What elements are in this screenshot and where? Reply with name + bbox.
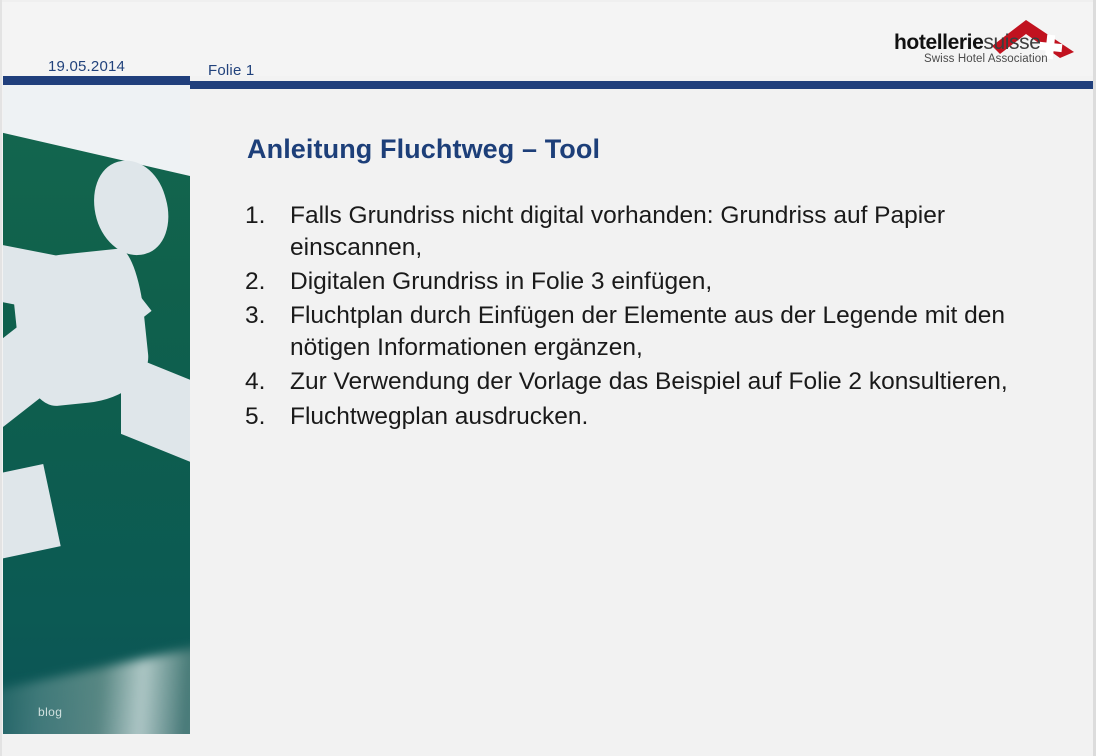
numbered-list: 1. Falls Grundriss nicht digital vorhand… [243, 200, 1053, 435]
list-item-number: 5. [243, 401, 290, 433]
slide-title: Anleitung Fluchtweg – Tool [247, 134, 600, 165]
list-item-text: Fluchtwegplan ausdrucken. [290, 401, 1053, 433]
list-item-text: Falls Grundriss nicht digital vorhanden:… [290, 200, 1053, 264]
logo-name-bold: hotellerie [894, 31, 983, 54]
sidebar-image [3, 85, 190, 748]
logo-wordmark: hotelleriesuisse [894, 32, 1041, 53]
sidebar-bottom-edge [3, 734, 190, 748]
slide-border-left [0, 0, 2, 756]
header-rule-left [3, 76, 190, 85]
list-item: 1. Falls Grundriss nicht digital vorhand… [243, 200, 1053, 264]
image-watermark: blog [38, 705, 62, 719]
list-item: 5. Fluchtwegplan ausdrucken. [243, 401, 1053, 433]
list-item-number: 2. [243, 266, 290, 298]
logo-name-light: suisse [983, 31, 1040, 54]
list-item-text: Zur Verwendung der Vorlage das Beispiel … [290, 366, 1053, 398]
list-item-number: 1. [243, 200, 290, 232]
list-item: 2. Digitalen Grundriss in Folie 3 einfüg… [243, 266, 1053, 298]
header-rule-right [190, 81, 1093, 89]
slide-date: 19.05.2014 [48, 58, 125, 75]
list-item-text: Digitalen Grundriss in Folie 3 einfügen, [290, 266, 1053, 298]
list-item-number: 3. [243, 300, 290, 332]
list-item-text: Fluchtplan durch Einfügen der Elemente a… [290, 300, 1053, 364]
list-item: 4. Zur Verwendung der Vorlage das Beispi… [243, 366, 1053, 398]
list-item-number: 4. [243, 366, 290, 398]
slide-number-label: Folie 1 [208, 62, 254, 79]
slide-content: Anleitung Fluchtweg – Tool 1. Falls Grun… [190, 89, 1093, 748]
hotelleriesuisse-logo: hotelleriesuisse Swiss Hotel Association [888, 10, 1078, 68]
logo-tagline: Swiss Hotel Association [924, 54, 1048, 66]
presentation-slide: 19.05.2014 Folie 1 hotelleriesuisse Swis… [0, 0, 1096, 756]
list-item: 3. Fluchtplan durch Einfügen der Element… [243, 300, 1053, 364]
